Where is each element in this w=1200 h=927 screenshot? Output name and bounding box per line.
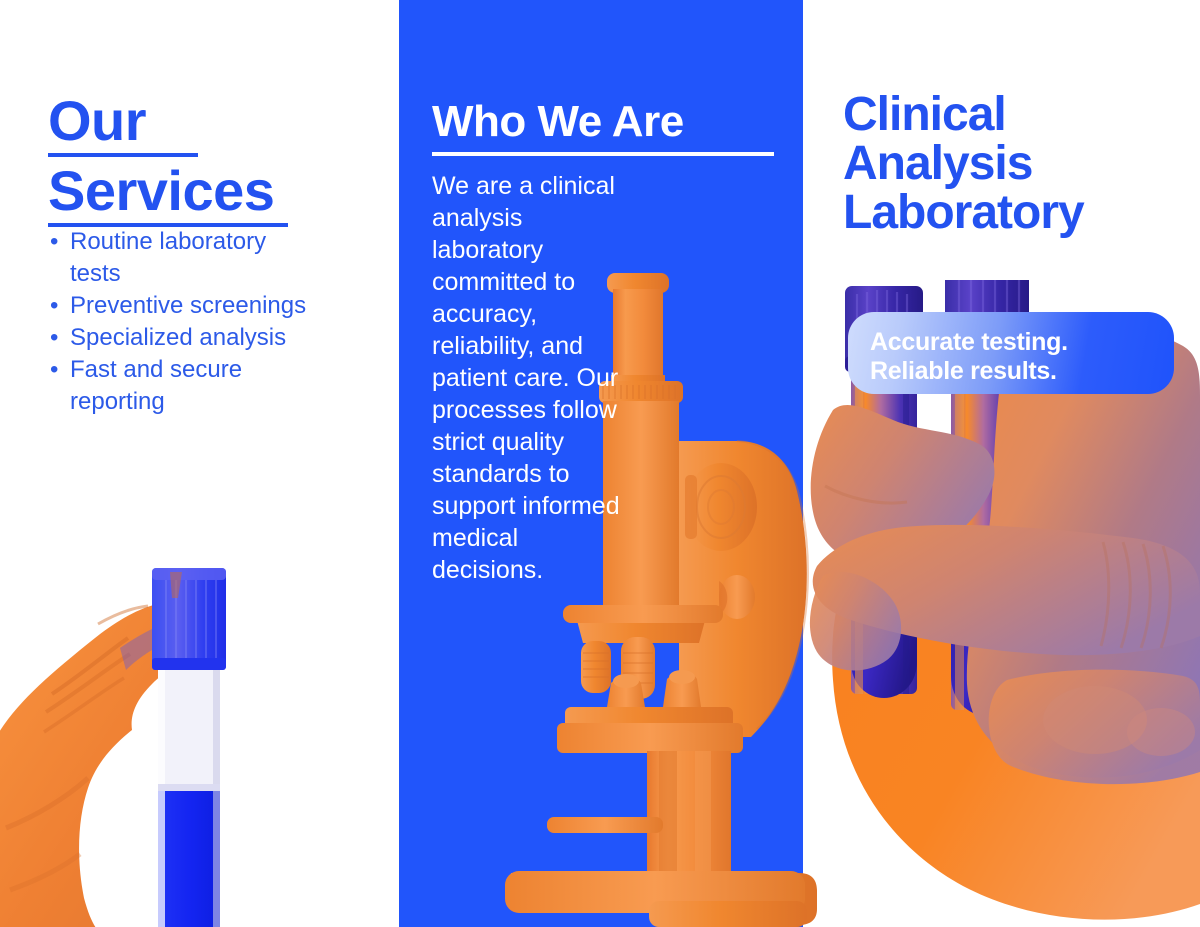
- page-title: Clinical Analysis Laboratory: [843, 90, 1193, 237]
- list-item: • Preventive screenings: [48, 290, 318, 322]
- bullet-icon: •: [50, 290, 58, 322]
- list-item-label: Preventive screenings: [70, 292, 306, 319]
- bullet-icon: •: [50, 322, 58, 354]
- left-panel: Our Services • Routine laboratory tests …: [0, 0, 399, 927]
- our-services-heading: Our Services: [48, 92, 348, 227]
- gloved-hand-tube-image: [0, 498, 399, 927]
- list-item: • Specialized analysis: [48, 322, 318, 354]
- bullet-icon: •: [50, 354, 58, 386]
- right-panel: Clinical Analysis Laboratory: [803, 0, 1200, 927]
- who-we-are-heading: Who We Are: [432, 96, 774, 156]
- services-list: • Routine laboratory tests • Preventive …: [48, 226, 318, 418]
- badge-line-1: Accurate testing.: [870, 328, 1068, 357]
- bullet-icon: •: [50, 226, 58, 258]
- who-we-are-body: We are a clinical analysis laboratory co…: [432, 170, 632, 586]
- list-item: • Routine laboratory tests: [48, 226, 318, 290]
- title-line-1: Clinical: [843, 90, 1193, 139]
- heading-line-services: Services: [48, 162, 288, 227]
- status-badge: Accurate testing. Reliable results.: [848, 312, 1174, 394]
- list-item-label: Fast and secure reporting: [70, 356, 242, 415]
- list-item: • Fast and secure reporting: [48, 354, 318, 418]
- list-item-label: Specialized analysis: [70, 324, 286, 351]
- title-line-2: Analysis: [843, 139, 1193, 188]
- title-line-3: Laboratory: [843, 188, 1193, 237]
- middle-panel: Who We Are We are a clinical analysis la…: [399, 0, 803, 927]
- badge-line-2: Reliable results.: [870, 357, 1068, 386]
- badge-text: Accurate testing. Reliable results.: [870, 328, 1068, 386]
- heading-line-our: Our: [48, 92, 198, 157]
- list-item-label: Routine laboratory tests: [70, 228, 266, 287]
- poster-root: Our Services • Routine laboratory tests …: [0, 0, 1200, 927]
